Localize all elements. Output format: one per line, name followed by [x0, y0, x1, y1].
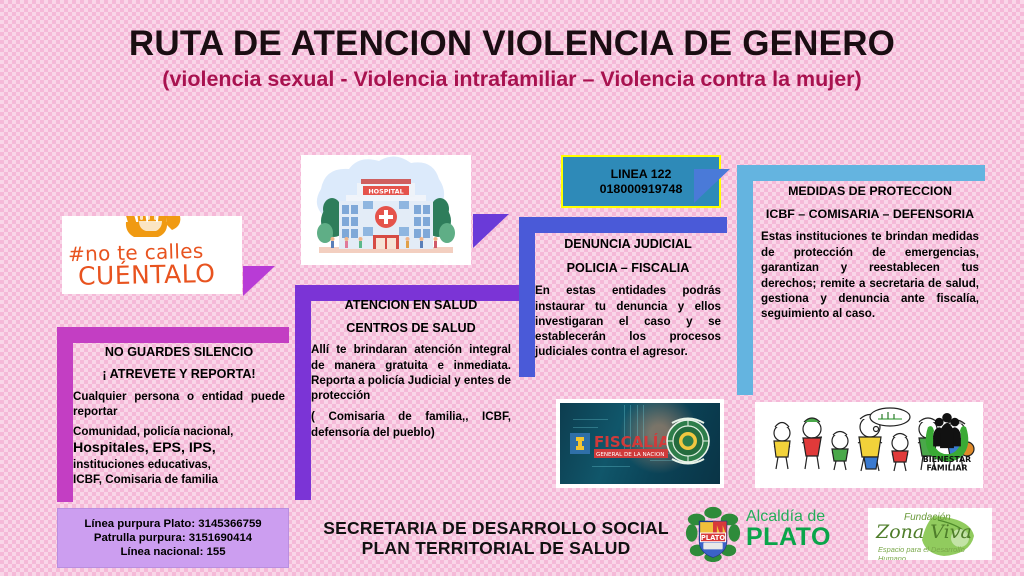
column3-frame-left-bar [519, 217, 535, 377]
footer-org-text: SECRETARIA DE DESARROLLO SOCIAL PLAN TER… [300, 518, 692, 559]
plato-coat-of-arms-icon: PLATO [684, 504, 742, 562]
arrow-triangle-col3-to-col4 [694, 169, 730, 203]
alcaldia-text-block: Alcaldía de PLATO [746, 509, 831, 550]
column2-heading2: CENTROS DE SALUD [311, 320, 511, 337]
page-title: RUTA DE ATENCION VIOLENCIA DE GENERO [0, 26, 1024, 63]
footer-line1: SECRETARIA DE DESARROLLO SOCIAL [300, 518, 692, 538]
fundacion-line2: Zona Viva [876, 521, 972, 543]
column4-heading1: MEDIDAS DE PROTECCION [761, 183, 979, 200]
column4-text-block: MEDIDAS DE PROTECCION ICBF – COMISARIA –… [761, 183, 979, 398]
column4-frame-left-bar [737, 165, 753, 395]
arrow-triangle-col1-to-col2 [243, 266, 275, 296]
column2-paragraph1: Allí te brindaran atención integral de m… [311, 342, 511, 403]
infographic-canvas: RUTA DE ATENCION VIOLENCIA DE GENERO (vi… [0, 0, 1024, 576]
hotline-line1: LINEA 122 [611, 167, 672, 181]
svg-text:GENERAL DE LA NACION: GENERAL DE LA NACION [596, 452, 665, 458]
hotline-line2: 018000919748 [600, 182, 683, 196]
fundacion-line3: Espacio para el Desarrollo Humano [878, 545, 992, 560]
plato-crest-label: PLATO [701, 534, 726, 542]
column1-text-block: NO GUARDES SILENCIO ¡ ATREVETE Y REPORTA… [73, 344, 285, 504]
fiscalia-image: FISCALÍA GENERAL DE LA NACION [560, 403, 720, 484]
footer-line2: PLAN TERRITORIAL DE SALUD [300, 538, 692, 558]
svg-text:FISCALÍA: FISCALÍA [594, 432, 670, 451]
column3-heading2: POLICIA – FISCALIA [535, 260, 721, 277]
column4-paragraph1: Estas instituciones te brindan medidas d… [761, 229, 979, 321]
column4-heading2: ICBF – COMISARIA – DEFENSORIA [761, 207, 979, 222]
phone-patrulla-purpura: Patrulla purpura: 3151690414 [94, 532, 252, 544]
svg-text:BIENESTAR: BIENESTAR [923, 455, 971, 464]
emergency-phones-box: Línea purpura Plato: 3145366759 Patrulla… [57, 508, 289, 568]
column1-entity-line1: Comunidad, policía nacional, [73, 424, 285, 439]
campaign-hashtag-line2: CUÉNTALO [78, 258, 242, 291]
column1-entity-line4: ICBF, Comisaria de familia [73, 472, 285, 487]
fundacion-zona-viva-logo: Fundación Zona Viva Espacio para el Desa… [868, 508, 992, 560]
column2-text-block: ATENCION EN SALUD CENTROS DE SALUD Allí … [311, 297, 511, 497]
column2-paragraph2: ( Comisaria de familia,, ICBF, defensorí… [311, 409, 511, 440]
column1-heading1: NO GUARDES SILENCIO [73, 344, 285, 360]
icbf-logo-card: BIENESTAR FAMILIAR [755, 402, 983, 488]
page-title-block: RUTA DE ATENCION VIOLENCIA DE GENERO (vi… [0, 26, 1024, 91]
fiscalia-emblem-icon: FISCALÍA GENERAL DE LA NACION [560, 403, 720, 484]
campaign-logo-card: #no te calles CUÉNTALO [62, 216, 242, 294]
fiscalia-logo-card: FISCALÍA GENERAL DE LA NACION [556, 399, 724, 488]
column1-heading2: ¡ ATREVETE Y REPORTA! [73, 366, 285, 382]
svg-text:HOSPITAL: HOSPITAL [368, 188, 403, 196]
column1-frame-top-bar [57, 327, 289, 343]
svg-text:FAMILIAR: FAMILIAR [926, 464, 967, 473]
column3-frame-top-bar [519, 217, 727, 233]
column1-paragraph2: Comunidad, policía nacional, Hospitales,… [73, 424, 285, 488]
column1-frame-left-bar [57, 327, 73, 502]
column3-text-block: DENUNCIA JUDICIAL POLICIA – FISCALIA En … [535, 236, 721, 386]
hospital-illustration-card: HOSPITAL [301, 155, 471, 265]
column2-frame-left-bar [295, 285, 311, 500]
column1-entity-line2: Hospitales, EPS, IPS, [73, 439, 285, 457]
orange-hand-icon [120, 216, 186, 240]
column3-paragraph1: En estas entidades podrás instaurar tu d… [535, 283, 721, 359]
column1-entity-line3: instituciones educativas, [73, 457, 285, 472]
column4-frame-top-bar [737, 165, 985, 181]
hospital-building-icon: HOSPITAL [301, 155, 471, 265]
column2-heading1: ATENCION EN SALUD [311, 297, 511, 314]
column3-heading1: DENUNCIA JUDICIAL [535, 236, 721, 253]
phone-linea-purpura-plato: Línea purpura Plato: 3145366759 [84, 518, 261, 530]
arrow-triangle-col2-to-col3 [473, 214, 509, 248]
page-subtitle: (violencia sexual - Violencia intrafamil… [0, 68, 1024, 92]
column1-paragraph1: Cualquier persona o entidad puede report… [73, 389, 285, 419]
alcaldia-line2: PLATO [746, 525, 831, 550]
phone-linea-nacional: Línea nacional: 155 [120, 546, 225, 558]
alcaldia-plato-logo: PLATO Alcaldía de PLATO [684, 504, 854, 564]
bienestar-familiar-logo-icon: BIENESTAR FAMILIAR [921, 411, 973, 473]
